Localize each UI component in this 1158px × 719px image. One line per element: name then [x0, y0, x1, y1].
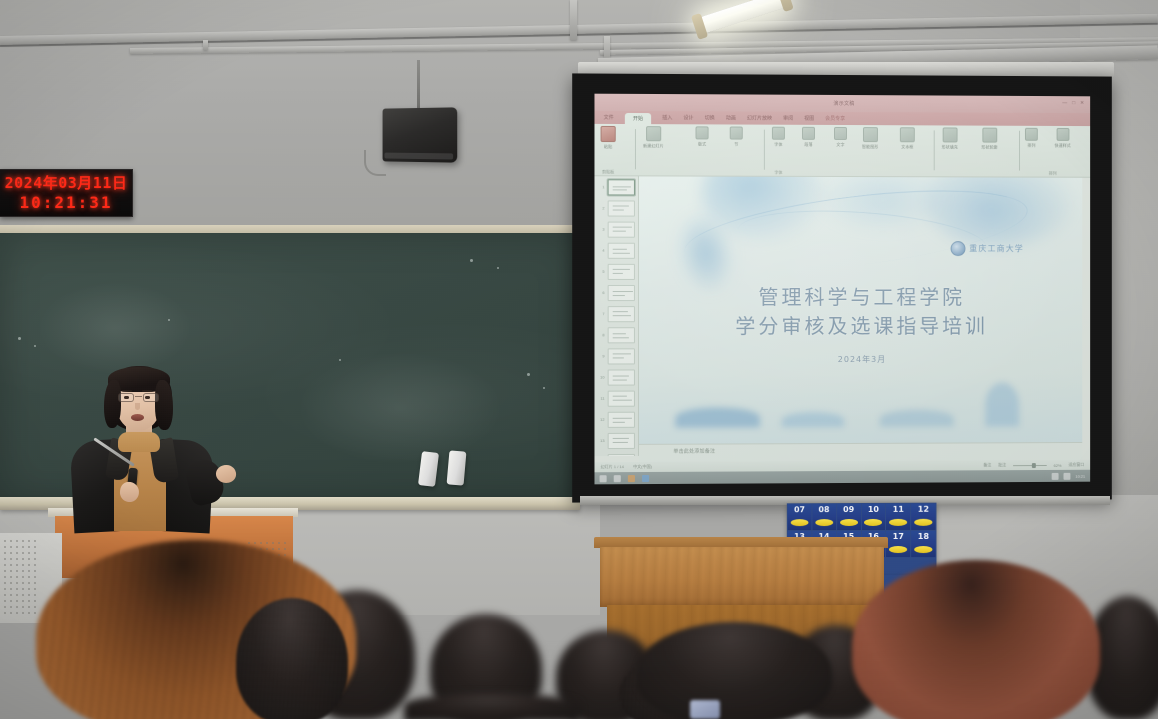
- projection-screen: 演示文稿 文件 开始 插入 设计 切换 动画 幻灯片放映 审阅 视图 会员专享 …: [572, 73, 1112, 502]
- status-slide-counter: 幻灯片 1 / 14: [601, 464, 624, 470]
- chalk-speck: [497, 267, 499, 269]
- cell-number: 18: [918, 532, 929, 557]
- university-logo: 重庆工商大学: [950, 241, 1024, 256]
- layout-icon: [696, 126, 709, 139]
- ribbon-toolbar: 粘贴 剪贴板 新建幻灯片 版式 节: [594, 124, 1090, 178]
- audience-head: [236, 598, 348, 719]
- fluorescent-tube: [696, 0, 789, 35]
- window-controls: — □ ✕: [1062, 100, 1084, 106]
- ribbon-tab-design[interactable]: 设计: [683, 114, 693, 121]
- cell-number: 07: [794, 505, 805, 530]
- slide-thumbnail-preview: [608, 284, 635, 300]
- slide-thumbnail-number: 10: [600, 375, 605, 380]
- zoom-slider[interactable]: [1013, 465, 1047, 466]
- numbered-cell: 10: [861, 504, 885, 530]
- slide-thumbnail-number: 5: [600, 269, 605, 274]
- slide-thumbnail-number: 1: [600, 184, 605, 189]
- slide-thumbnail-number: 7: [600, 311, 605, 316]
- slide-thumbnail[interactable]: 1: [594, 176, 638, 197]
- presenter-mouth: [131, 414, 144, 421]
- ribbon-tab-transitions[interactable]: 切换: [705, 114, 715, 121]
- university-name: 重庆工商大学: [969, 243, 1024, 254]
- ribbon-label-arrange: 排列: [1027, 143, 1035, 149]
- paragraph-icon: [802, 127, 815, 140]
- ribbon-tab-animations[interactable]: 动画: [726, 114, 736, 121]
- slide-thumbnail-preview: [608, 390, 635, 406]
- glasses-bridge: [135, 396, 142, 397]
- led-clock-date: 2024年03月11日: [5, 174, 128, 193]
- slide-thumbnail-number: 13: [600, 438, 605, 443]
- slide-thumbnail-preview: [608, 432, 635, 448]
- cell-number: 17: [893, 532, 904, 557]
- slide-thumbnail-preview: [608, 369, 635, 385]
- search-icon[interactable]: [614, 475, 621, 482]
- ribbon-label-textbox: 文本框: [901, 144, 913, 150]
- ribbon-button-text[interactable]: 文字: [834, 127, 847, 175]
- slide-thumbnail-rail[interactable]: 1 2 3: [594, 176, 639, 456]
- slide-thumbnail-number: 9: [600, 353, 605, 358]
- paste-icon: [601, 126, 616, 142]
- close-icon[interactable]: ✕: [1080, 100, 1084, 106]
- slide-thumbnail-preview: [608, 242, 635, 258]
- slide-canvas-area: 重庆工商大学 管理科学与工程学院 学分审核及选课指导培训 2024年3月: [639, 176, 1082, 443]
- slide-thumbnail-number: 11: [600, 396, 605, 401]
- arrange-icon: [1025, 128, 1038, 141]
- maximize-icon[interactable]: □: [1072, 100, 1075, 106]
- ribbon-tab-slideshow[interactable]: 幻灯片放映: [747, 115, 772, 122]
- chalk-speck: [34, 345, 36, 347]
- zoom-slider-knob[interactable]: [1032, 463, 1036, 468]
- slide-thumbnail-preview: [608, 453, 635, 456]
- slide-thumbnail[interactable]: 2: [594, 197, 638, 218]
- slide-decor-peak: [986, 383, 1020, 427]
- slide-thumbnail-preview: [608, 200, 635, 216]
- chalk-speck: [470, 259, 473, 262]
- ribbon-tab-membership[interactable]: 会员专享: [825, 115, 845, 122]
- new-slide-icon: [646, 126, 661, 141]
- quick-style-icon: [1056, 128, 1069, 141]
- chalk-speck: [339, 359, 341, 361]
- presentation-taskbar-icon[interactable]: [642, 474, 649, 481]
- audience-shoulder: [404, 694, 580, 719]
- start-menu-icon[interactable]: [600, 475, 607, 482]
- status-right-group: 备注 批注 62% 适应窗口: [983, 462, 1084, 468]
- led-clock-time: 10:21:31: [19, 193, 112, 213]
- slide-thumbnail-number: 12: [600, 417, 605, 422]
- shape-outline-icon: [982, 128, 997, 143]
- slide-thumbnail[interactable]: 3: [594, 219, 638, 240]
- slide-title-block: 管理科学与工程学院 学分审核及选课指导培训 2024年3月: [639, 283, 1082, 365]
- ribbon-label-text: 文字: [836, 142, 844, 148]
- slide-thumbnail-preview: [608, 221, 635, 237]
- speaker-mount-stem: [417, 60, 420, 112]
- chalk-speck: [527, 373, 530, 376]
- numbered-cell: 18: [911, 531, 935, 557]
- ribbon-button-font[interactable]: 字体 字体: [772, 127, 785, 175]
- slide-thumbnail[interactable]: 11: [594, 388, 638, 409]
- presenter-side-hair-right: [155, 380, 173, 430]
- minimize-icon[interactable]: —: [1062, 100, 1067, 106]
- ribbon-button-new-slide[interactable]: 新建幻灯片: [643, 126, 664, 174]
- chalk-smudge: [300, 353, 500, 463]
- presenter-eye-left: [124, 396, 129, 399]
- chalk-smudge: [40, 283, 190, 373]
- taskbar-clock: 10:21: [1075, 473, 1085, 478]
- ribbon-button-layout[interactable]: 版式: [696, 126, 709, 174]
- wall-mounted-speaker: [383, 107, 458, 162]
- numbered-cell: 07: [788, 504, 811, 530]
- numbered-cell: 12: [911, 504, 935, 530]
- ribbon-label-paste: 粘贴: [604, 144, 612, 150]
- slide-thumbnail-preview: [608, 411, 635, 427]
- university-seal-icon: [950, 241, 965, 256]
- status-fit-window[interactable]: 适应窗口: [1068, 462, 1084, 468]
- ribbon-label-new-slide: 新建幻灯片: [643, 143, 664, 149]
- slide-thumbnail-preview: [608, 327, 635, 343]
- podium-front-panel: [600, 547, 884, 607]
- textbox-icon: [900, 127, 915, 142]
- slide-thumbnail-number: 4: [600, 248, 605, 253]
- ribbon-label-paragraph: 段落: [804, 142, 812, 148]
- chalkboard-eraser[interactable]: [447, 450, 467, 485]
- ribbon-label-font: 字体: [774, 142, 782, 148]
- ribbon-group-clipboard: 剪贴板: [602, 169, 614, 175]
- chalk-speck: [168, 319, 170, 321]
- notes-pane[interactable]: 单击此处添加备注: [639, 442, 1082, 462]
- ribbon-button-quick-style[interactable]: 快速样式 排列: [1055, 128, 1071, 176]
- numbered-cell: 11: [886, 504, 910, 530]
- status-notes-toggle[interactable]: 备注: [983, 462, 991, 468]
- presenter-eyebrow-left: [122, 390, 132, 392]
- slide-thumbnail-number: 3: [600, 227, 605, 232]
- slide-thumbnail-preview: [608, 179, 635, 195]
- shape-fill-icon: [942, 127, 957, 142]
- network-icon[interactable]: [1052, 472, 1059, 479]
- slide-thumbnail[interactable]: 8: [594, 324, 638, 345]
- current-slide[interactable]: 重庆工商大学 管理科学与工程学院 学分审核及选课指导培训 2024年3月: [639, 176, 1082, 443]
- presentation-window-title: 演示文稿: [594, 99, 1090, 109]
- ribbon-button-shape-fill[interactable]: 形状填充: [942, 127, 958, 175]
- slide-decor-mountain: [880, 410, 954, 427]
- ribbon-group-arrange: 排列: [1049, 171, 1057, 177]
- status-comment-toggle[interactable]: 批注: [998, 462, 1006, 468]
- ribbon-label-layout: 版式: [698, 141, 706, 147]
- slide-date: 2024年3月: [639, 354, 1082, 366]
- system-tray: 10:21: [1052, 472, 1086, 479]
- led-clock: 2024年03月11日 10:21:31: [0, 169, 133, 217]
- cell-number: 09: [843, 505, 854, 530]
- ribbon-tab-view[interactable]: 视图: [804, 115, 814, 122]
- ribbon-button-shape-outline[interactable]: 形状轮廓: [981, 128, 997, 176]
- ceiling-conduit-vertical-riser: [570, 0, 577, 40]
- ribbon-separator: [1019, 131, 1020, 171]
- cell-number: 10: [868, 505, 879, 530]
- chalk-speck: [543, 387, 545, 389]
- presenter-side-hair-left: [104, 380, 121, 428]
- presenter: [56, 366, 266, 531]
- font-icon: [772, 127, 785, 140]
- chalk-speck: [18, 337, 21, 340]
- classroom-photo-scene: 2024年03月11日 10:21:31 TIMEPLAYER 演示文稿: [0, 0, 1158, 719]
- ribbon-label-section: 节: [734, 142, 738, 148]
- slide-decor-mountain: [782, 412, 844, 427]
- ribbon-button-arrange[interactable]: 排列: [1025, 128, 1038, 176]
- os-taskbar: 10:21: [594, 470, 1090, 485]
- slide-thumbnail[interactable]: 4: [594, 240, 638, 261]
- ribbon-tab-review[interactable]: 审阅: [783, 115, 793, 122]
- slide-thumbnail[interactable]: 5: [594, 261, 638, 282]
- status-language[interactable]: 中文(中国): [633, 464, 652, 470]
- slide-thumbnail[interactable]: 13: [594, 430, 638, 451]
- cell-number: 12: [918, 505, 929, 530]
- ribbon-label-shape-outline: 形状轮廓: [981, 145, 997, 151]
- ribbon-tab-file[interactable]: 文件: [604, 114, 614, 121]
- slide-thumbnail-number: 2: [600, 205, 605, 210]
- ribbon-button-paste[interactable]: 粘贴 剪贴板: [601, 126, 616, 174]
- audience-head: [636, 622, 832, 719]
- slide-thumbnail[interactable]: 10: [594, 366, 638, 387]
- section-icon: [730, 126, 743, 139]
- slide-thumbnail[interactable]: 6: [594, 282, 638, 303]
- cell-number: 11: [893, 505, 904, 530]
- slide-thumbnail-preview: [608, 306, 635, 322]
- slide-thumbnail-number: 6: [600, 290, 605, 295]
- ribbon-label-shape-fill: 形状填充: [942, 144, 958, 150]
- ribbon-button-textbox[interactable]: 文本框: [900, 127, 915, 175]
- presenter-eye-right: [145, 396, 150, 399]
- smartart-icon: [863, 127, 878, 142]
- ribbon-label-smartart: 智能图形: [862, 144, 878, 150]
- projected-display: 演示文稿 文件 开始 插入 设计 切换 动画 幻灯片放映 审阅 视图 会员专享 …: [594, 94, 1090, 485]
- volume-icon[interactable]: [1063, 472, 1070, 479]
- ribbon-button-section[interactable]: 节: [730, 126, 743, 174]
- slide-thumbnail[interactable]: 14: [594, 451, 638, 456]
- slide-thumbnail-preview: [608, 348, 635, 364]
- presenter-nose: [135, 403, 140, 410]
- slide-thumbnail[interactable]: 12: [594, 409, 638, 430]
- slide-thumbnail-preview: [608, 263, 635, 279]
- ribbon-separator: [764, 130, 765, 170]
- ribbon-group-font: 字体: [774, 170, 782, 176]
- ribbon-separator: [635, 129, 636, 169]
- status-zoom-level[interactable]: 62%: [1054, 462, 1062, 467]
- ceiling-conduit-dropper: [203, 40, 208, 50]
- slide-thumbnail-number: 8: [600, 332, 605, 337]
- ribbon-tab-insert[interactable]: 插入: [662, 114, 672, 121]
- audience-phone: [690, 700, 720, 719]
- presenter-turtleneck-collar: [118, 432, 160, 452]
- slide-thumbnail[interactable]: 7: [594, 303, 638, 324]
- slide-thumbnail[interactable]: 9: [594, 345, 638, 366]
- audience-head-foreground-right: [852, 560, 1100, 719]
- slide-title-line-1: 管理科学与工程学院: [639, 283, 1082, 311]
- numbered-cell: 09: [837, 504, 861, 530]
- slide-decor-mountain: [675, 407, 760, 427]
- slide-title-line-2: 学分审核及选课指导培训: [639, 311, 1082, 341]
- ribbon-label-quick-style: 快速样式: [1055, 143, 1071, 149]
- ribbon-separator: [934, 130, 935, 170]
- acoustic-panel-perforation: [2, 538, 38, 618]
- cell-number: 08: [818, 505, 829, 530]
- numbered-cell: 08: [812, 504, 836, 530]
- numbered-cell: 17: [886, 531, 910, 557]
- presenter-eyebrow-right: [142, 390, 152, 392]
- file-explorer-icon[interactable]: [628, 475, 635, 482]
- ribbon-button-paragraph[interactable]: 段落: [802, 127, 815, 175]
- text-icon: [834, 127, 847, 140]
- ribbon-button-smartart[interactable]: 智能图形: [862, 127, 878, 175]
